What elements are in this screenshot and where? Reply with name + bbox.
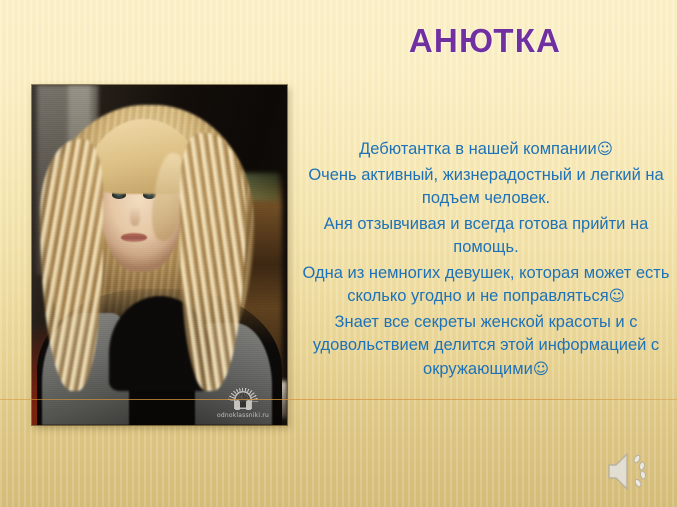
photo-watermark: odnoklassniki.ru <box>205 385 281 419</box>
odnoklassniki-logo-icon <box>226 385 260 411</box>
portrait-photo[interactable]: odnoklassniki.ru <box>32 85 287 425</box>
paragraph-5: Знает все секреты женской красоты и с уд… <box>300 311 672 382</box>
presentation-slide: АНЮТКА o <box>0 0 677 507</box>
paragraph-1: Дебютантка в нашей компании☺ <box>300 138 672 162</box>
page-title: АНЮТКА <box>300 22 670 60</box>
paragraph-2: Очень активный, жизнерадостный и легкий … <box>300 164 672 211</box>
speaker-sound-icon[interactable] <box>605 447 657 495</box>
watermark-label: odnoklassniki.ru <box>205 412 281 419</box>
body-text-block: Дебютантка в нашей компании☺ Очень актив… <box>300 138 672 383</box>
paragraph-4: Одна из немногих девушек, которая может … <box>300 262 672 309</box>
paragraph-3: Аня отзывчивая и всегда готова прийти на… <box>300 213 672 260</box>
photo-grain <box>32 85 287 425</box>
